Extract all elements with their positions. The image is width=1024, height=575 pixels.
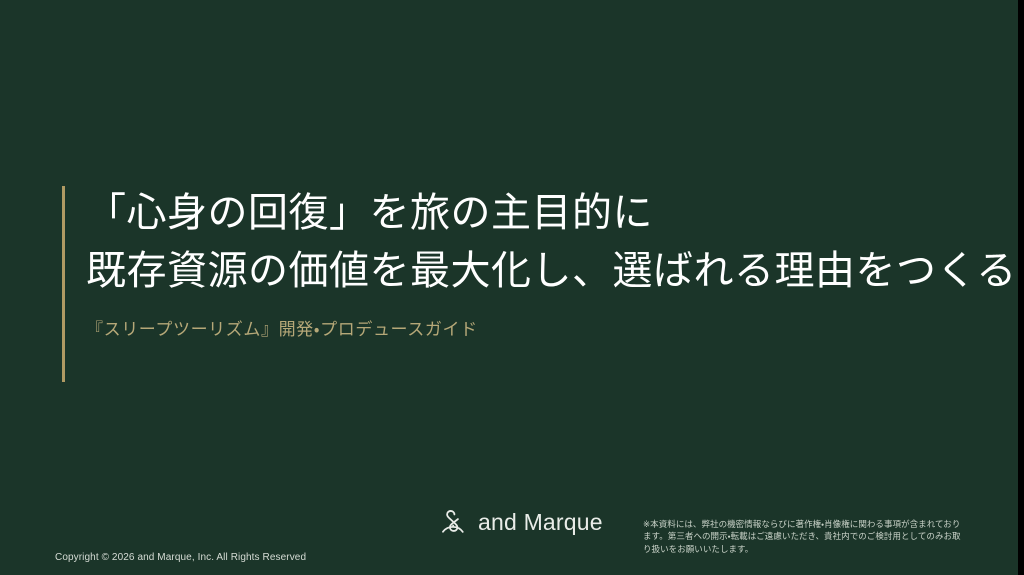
brand-logo: and Marque: [437, 505, 603, 539]
accent-bar: [62, 186, 65, 382]
title-line-1: 「心身の回復」を旅の主目的に: [86, 184, 998, 242]
page-title: 「心身の回復」を旅の主目的に 既存資源の価値を最大化し、選ばれる理由をつくる: [86, 184, 998, 300]
subtitle: 『スリープツーリズム』開発・プロデュースガイド: [86, 317, 478, 343]
right-edge-strip: [1018, 0, 1024, 575]
logo-wordmark: and Marque: [478, 509, 603, 535]
copyright-notice: Copyright © 2026 and Marque, Inc. All Ri…: [55, 551, 306, 565]
title-line-2: 既存資源の価値を最大化し、選ばれる理由をつくる: [86, 242, 998, 300]
title-slide: 「心身の回復」を旅の主目的に 既存資源の価値を最大化し、選ばれる理由をつくる 『…: [0, 0, 1024, 575]
confidentiality-disclaimer: ※本資料には、弊社の機密情報ならびに著作権・肖像権に関わる事項が含まれております…: [643, 518, 965, 555]
ampersand-logo-icon: [437, 505, 471, 539]
title-block: 「心身の回復」を旅の主目的に 既存資源の価値を最大化し、選ばれる理由をつくる 『…: [62, 186, 1002, 382]
